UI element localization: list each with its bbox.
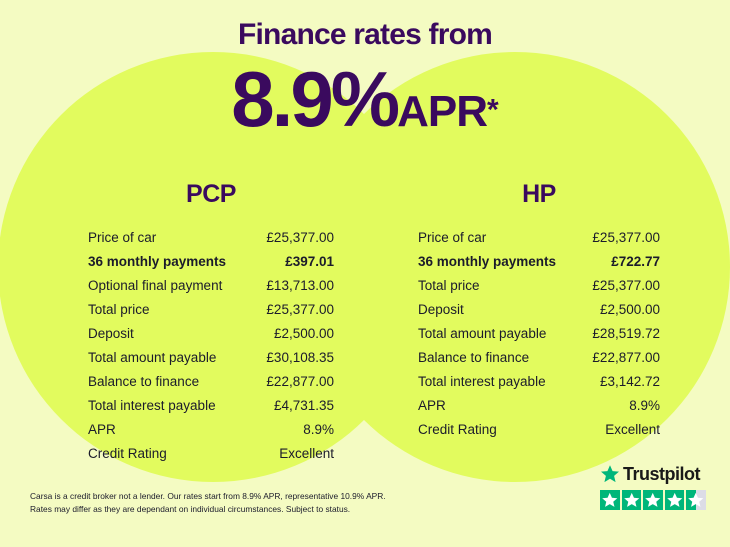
row-value: Excellent (605, 418, 660, 442)
trustpilot-wordmark: Trustpilot (600, 463, 708, 485)
table-row: Total amount payable£28,519.72 (418, 322, 660, 346)
table-row: Total amount payable£30,108.35 (88, 346, 334, 370)
table-row: APR8.9% (88, 418, 334, 442)
star-icon (622, 490, 642, 510)
rating-star-full (600, 490, 620, 510)
row-label: Total interest payable (418, 370, 546, 394)
plan-card-hp: HP Price of car£25,377.0036 monthly paym… (418, 180, 660, 442)
headline-rate: 8.9%APR* (0, 60, 730, 138)
row-label: 36 monthly payments (418, 250, 556, 274)
table-row: Deposit£2,500.00 (88, 322, 334, 346)
row-value: £25,377.00 (266, 298, 334, 322)
rate-footnote-asterisk: * (487, 94, 499, 127)
row-value: £25,377.00 (592, 226, 660, 250)
trustpilot-name: Trustpilot (623, 465, 700, 483)
table-row: Price of car£25,377.00 (418, 226, 660, 250)
rate-suffix: APR (397, 87, 487, 136)
rating-star-half (686, 490, 706, 510)
table-row: APR8.9% (418, 394, 660, 418)
row-value: £25,377.00 (266, 226, 334, 250)
star-icon (600, 490, 620, 510)
table-row: Balance to finance£22,877.00 (418, 346, 660, 370)
row-value: £2,500.00 (274, 322, 334, 346)
row-label: Deposit (418, 298, 464, 322)
plan-card-pcp: PCP Price of car£25,377.0036 monthly pay… (88, 180, 334, 466)
row-label: Total interest payable (88, 394, 216, 418)
row-label: Deposit (88, 322, 134, 346)
row-label: 36 monthly payments (88, 250, 226, 274)
table-row: Credit RatingExcellent (418, 418, 660, 442)
row-label: Total price (418, 274, 480, 298)
page-title: Finance rates from (0, 18, 730, 52)
star-icon (665, 490, 685, 510)
row-value: £13,713.00 (266, 274, 334, 298)
plan-rows-pcp: Price of car£25,377.0036 monthly payment… (88, 226, 334, 466)
row-label: APR (88, 418, 116, 442)
row-label: Price of car (88, 226, 156, 250)
row-label: Balance to finance (418, 346, 529, 370)
row-label: Balance to finance (88, 370, 199, 394)
table-row: Total interest payable£3,142.72 (418, 370, 660, 394)
table-row: Total price£25,377.00 (418, 274, 660, 298)
row-label: Total amount payable (88, 346, 216, 370)
star-icon (600, 464, 620, 484)
star-icon (643, 490, 663, 510)
star-icon (686, 490, 706, 510)
table-row: Optional final payment£13,713.00 (88, 274, 334, 298)
row-label: Total amount payable (418, 322, 546, 346)
rating-star-full (622, 490, 642, 510)
row-value: £3,142.72 (600, 370, 660, 394)
row-label: Optional final payment (88, 274, 222, 298)
row-value: £28,519.72 (592, 322, 660, 346)
row-value: £22,877.00 (592, 346, 660, 370)
row-value: 8.9% (303, 418, 334, 442)
row-value: £22,877.00 (266, 370, 334, 394)
row-label: Credit Rating (88, 442, 167, 466)
row-value: £397.01 (285, 250, 334, 274)
row-label: Price of car (418, 226, 486, 250)
rating-star-full (643, 490, 663, 510)
row-value: £2,500.00 (600, 298, 660, 322)
trustpilot-stars (600, 490, 708, 510)
table-row: Price of car£25,377.00 (88, 226, 334, 250)
plan-rows-hp: Price of car£25,377.0036 monthly payment… (418, 226, 660, 442)
rate-value: 8.9% (231, 55, 397, 143)
disclaimer: Carsa is a credit broker not a lender. O… (30, 490, 460, 515)
trustpilot-rating: Trustpilot (600, 463, 708, 510)
row-value: £722.77 (611, 250, 660, 274)
table-row: Total interest payable£4,731.35 (88, 394, 334, 418)
table-row: 36 monthly payments£722.77 (418, 250, 660, 274)
disclaimer-line-2: Rates may differ as they are dependant o… (30, 503, 460, 516)
row-value: £30,108.35 (266, 346, 334, 370)
row-value: £4,731.35 (274, 394, 334, 418)
rating-star-full (665, 490, 685, 510)
table-row: 36 monthly payments£397.01 (88, 250, 334, 274)
table-row: Total price£25,377.00 (88, 298, 334, 322)
plan-title-pcp: PCP (88, 180, 334, 209)
row-label: APR (418, 394, 446, 418)
row-value: Excellent (279, 442, 334, 466)
row-value: 8.9% (629, 394, 660, 418)
row-value: £25,377.00 (592, 274, 660, 298)
plan-title-hp: HP (418, 180, 660, 209)
row-label: Credit Rating (418, 418, 497, 442)
table-row: Deposit£2,500.00 (418, 298, 660, 322)
disclaimer-line-1: Carsa is a credit broker not a lender. O… (30, 490, 460, 503)
finance-rates-promo: Finance rates from 8.9%APR* PCP Price of… (0, 0, 730, 547)
table-row: Credit RatingExcellent (88, 442, 334, 466)
table-row: Balance to finance£22,877.00 (88, 370, 334, 394)
row-label: Total price (88, 298, 150, 322)
